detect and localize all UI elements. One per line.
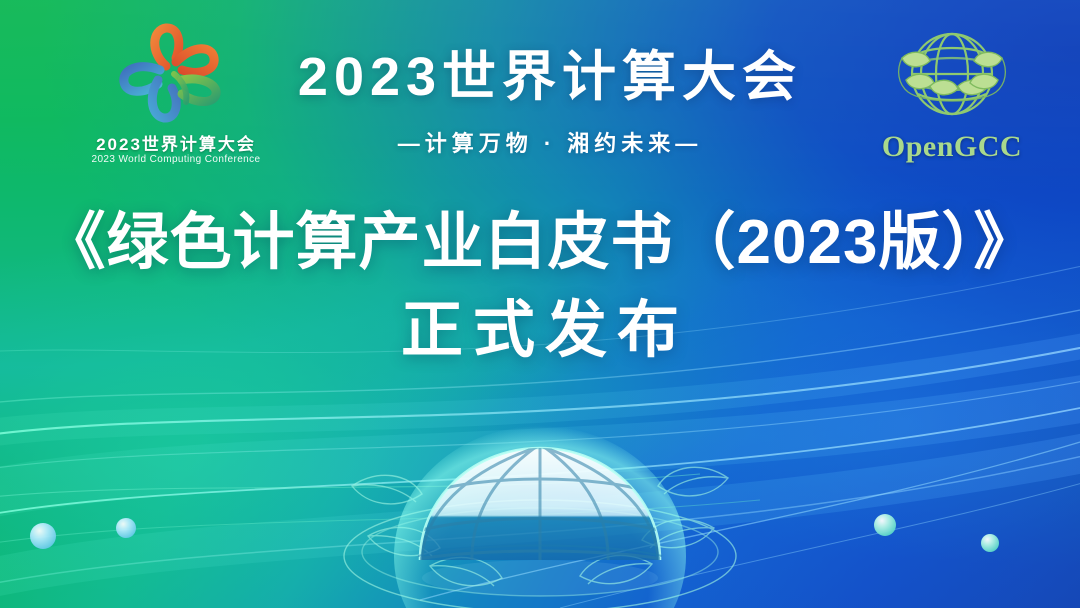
header-title: 2023世界计算大会 [250,46,850,110]
butterfly-flower-emblem-icon [108,18,238,126]
header-text-block: 2023世界计算大会 —计算万物 · 湘约未来— [250,46,850,158]
poster-canvas: 2023世界计算大会 2023 World Computing Conferen… [0,0,1080,608]
opengcc-logo-text: OpenGCC [872,130,1032,164]
opengcc-logo: OpenGCC [872,24,1032,174]
headline-line-1: 《绿色计算产业白皮书（2023版）》 [0,206,1080,280]
headline-block: 《绿色计算产业白皮书（2023版）》 正式发布 [0,206,1080,369]
globe-leaves-icon [888,24,1016,134]
poster-header: 2023世界计算大会 2023 World Computing Conferen… [0,0,1080,192]
headline-line-2: 正式发布 [0,294,1080,368]
header-subtitle: —计算万物 · 湘约未来— [250,126,850,158]
